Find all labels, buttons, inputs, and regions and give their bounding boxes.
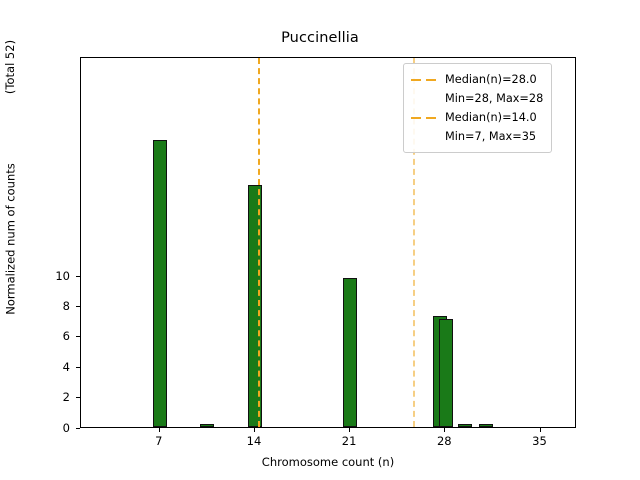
ytick-mark-8 [76, 306, 80, 307]
blank-swatch-icon [411, 131, 437, 143]
blank-swatch-icon [411, 93, 437, 105]
histogram-bar [153, 140, 167, 427]
legend-item: Median(n)=14.0 [411, 108, 543, 127]
ytick-mark-2 [76, 397, 80, 398]
histogram-bar [479, 424, 493, 427]
ytick-mark-4 [76, 367, 80, 368]
histogram-bar [439, 319, 453, 427]
chart-title: Puccinellia [0, 30, 640, 46]
x-axis-label: Chromosome count (n) [80, 455, 576, 469]
xtick-label-28: 28 [414, 434, 474, 448]
xtick-mark-35 [540, 428, 541, 432]
y-axis-total-label: (Total 52) [3, 0, 17, 197]
histogram-bar [200, 424, 214, 428]
histogram-bar [458, 424, 472, 427]
histogram-bar [343, 278, 357, 427]
legend-item: Median(n)=28.0 [411, 70, 543, 89]
legend-label: Min=7, Max=35 [445, 131, 536, 142]
ytick-label-10: 10 [18, 269, 70, 283]
ytick-mark-6 [76, 336, 80, 337]
ytick-label-6: 6 [18, 329, 70, 343]
xtick-label-14: 14 [224, 434, 284, 448]
xtick-label-7: 7 [129, 434, 189, 448]
ytick-label-2: 2 [18, 390, 70, 404]
xtick-mark-14 [254, 428, 255, 432]
ytick-label-4: 4 [18, 360, 70, 374]
median-line-14 [258, 58, 260, 427]
chart-figure: Puccinellia 7 14 21 28 35 0 2 4 6 8 10 C… [0, 0, 640, 480]
legend-label: Median(n)=28.0 [445, 74, 537, 85]
legend-label: Min=28, Max=28 [445, 93, 543, 104]
chart-legend: Median(n)=28.0 Min=28, Max=28 Median(n)=… [403, 63, 552, 153]
legend-label: Median(n)=14.0 [445, 112, 537, 123]
ytick-mark-0 [76, 428, 80, 429]
legend-item: Min=28, Max=28 [411, 89, 543, 108]
ytick-label-8: 8 [18, 299, 70, 313]
dashed-line-icon [411, 74, 437, 86]
xtick-mark-28 [444, 428, 445, 432]
xtick-label-21: 21 [319, 434, 379, 448]
xtick-mark-21 [349, 428, 350, 432]
xtick-label-35: 35 [510, 434, 570, 448]
dashed-line-icon [411, 112, 437, 124]
ytick-label-0: 0 [18, 421, 70, 435]
ytick-mark-10 [76, 276, 80, 277]
legend-item: Min=7, Max=35 [411, 127, 543, 146]
xtick-mark-7 [159, 428, 160, 432]
